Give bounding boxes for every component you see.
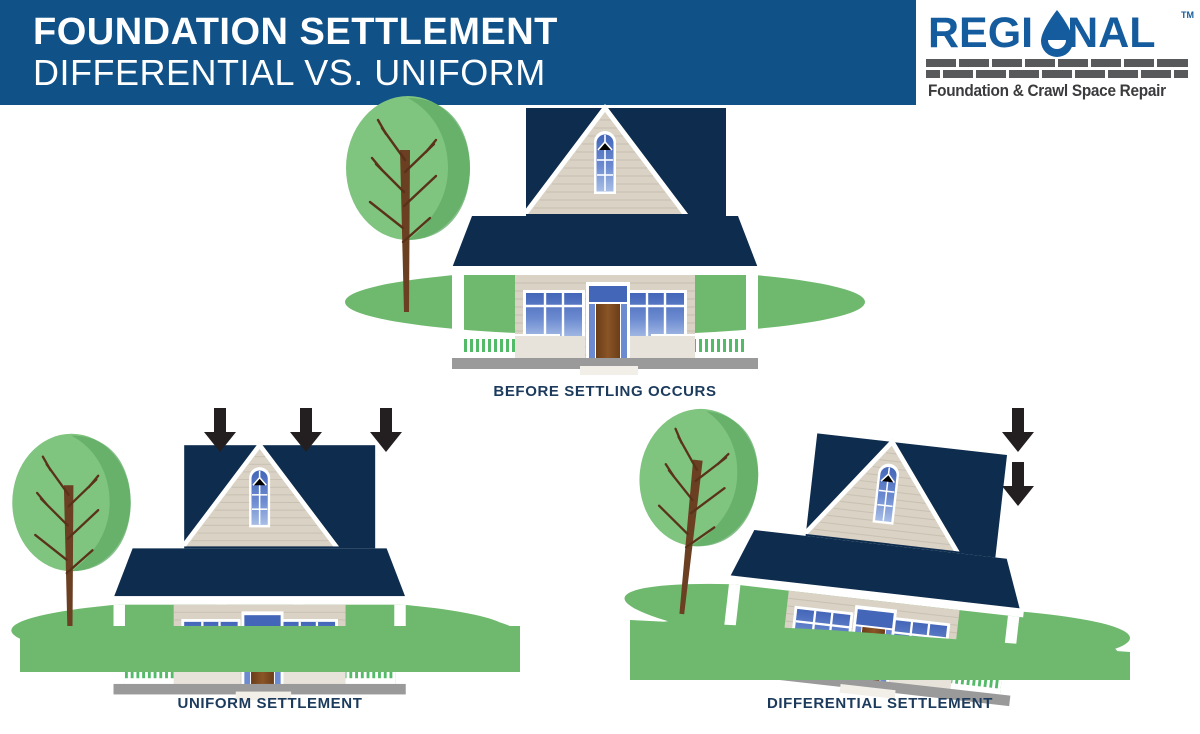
arrow-down-uniform-2 [289, 408, 323, 453]
water-droplet-icon [1039, 10, 1075, 57]
house-illustration-differential [630, 440, 1130, 690]
house-illustration-uniform [20, 440, 520, 690]
arrow-down-uniform-1 [203, 408, 237, 453]
caption-uniform-settlement: UNIFORM SETTLEMENT [20, 695, 520, 712]
logo-brand-part2: NAL [1067, 9, 1155, 57]
caption-before-settling: BEFORE SETTLING OCCURS [330, 383, 880, 400]
page-title-line2: DIFFERENTIAL VS. UNIFORM [33, 53, 546, 93]
scene-before-settling: BEFORE SETTLING OCCURS [330, 120, 880, 370]
logo-brand-part1: REGI [928, 9, 1033, 57]
arrow-down-differential-1 [1001, 408, 1035, 453]
caption-differential-settlement: DIFFERENTIAL SETTLEMENT [630, 695, 1130, 712]
logo-tagline: Foundation & Crawl Space Repair [928, 82, 1166, 101]
brick-pattern [926, 59, 1188, 79]
company-logo: REGINAL TM [916, 0, 1200, 105]
scene-uniform-settlement: UNIFORM SETTLEMENT [20, 440, 520, 690]
scene-differential-settlement: DIFFERENTIAL SETTLEMENT [630, 440, 1130, 690]
brick-row-top [926, 59, 1188, 67]
arrow-down-uniform-3 [369, 408, 403, 453]
arrow-down-differential-2 [1001, 462, 1035, 507]
trademark-symbol: TM [1181, 10, 1194, 20]
brick-row-bottom [926, 70, 1188, 78]
house-illustration-before [330, 120, 880, 370]
infographic-canvas: FOUNDATION SETTLEMENT DIFFERENTIAL VS. U… [0, 0, 1200, 734]
page-title-line1: FOUNDATION SETTLEMENT [33, 12, 558, 52]
